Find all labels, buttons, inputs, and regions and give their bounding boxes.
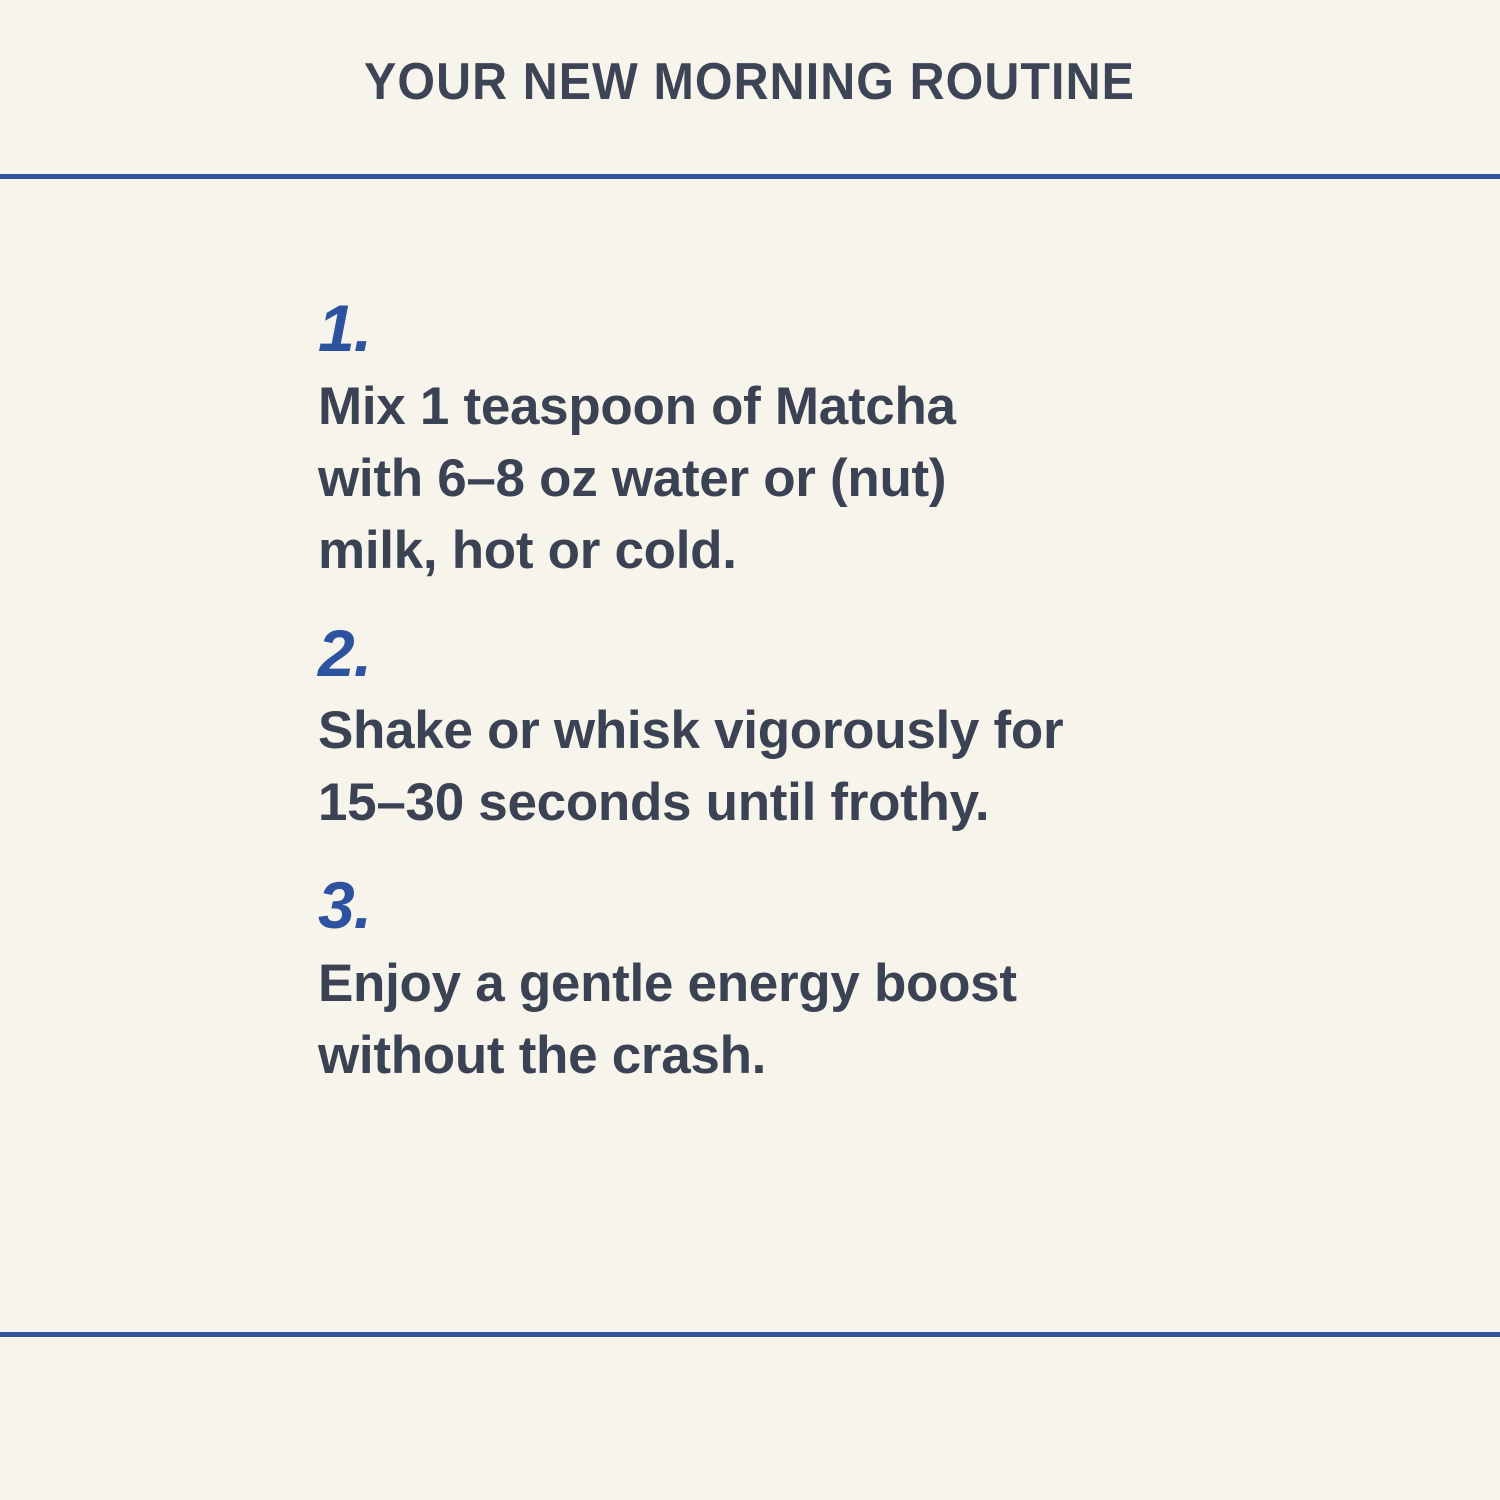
list-item: 1. Mix 1 teaspoon of Matcha with 6–8 oz … [318,296,1218,587]
list-item: 2. Shake or whisk vigorously for 15–30 s… [318,621,1218,840]
divider-top [0,174,1500,179]
step-number-3: 3. [318,873,1218,938]
step-text-2: Shake or whisk vigorously for 15–30 seco… [318,695,1198,839]
step-number-1: 1. [318,296,1218,361]
step-number-2: 2. [318,621,1218,686]
card-header: YOUR NEW MORNING ROUTINE [0,0,1500,176]
list-item: 3. Enjoy a gentle energy boost without t… [318,873,1218,1092]
page-title: YOUR NEW MORNING ROUTINE [364,56,1135,108]
instruction-card: YOUR NEW MORNING ROUTINE 1. Mix 1 teaspo… [0,0,1500,1500]
step-text-1: Mix 1 teaspoon of Matcha with 6–8 oz wat… [318,371,1198,587]
steps-list: 1. Mix 1 teaspoon of Matcha with 6–8 oz … [318,296,1218,1092]
divider-bottom [0,1332,1500,1337]
step-text-3: Enjoy a gentle energy boost without the … [318,948,1198,1092]
